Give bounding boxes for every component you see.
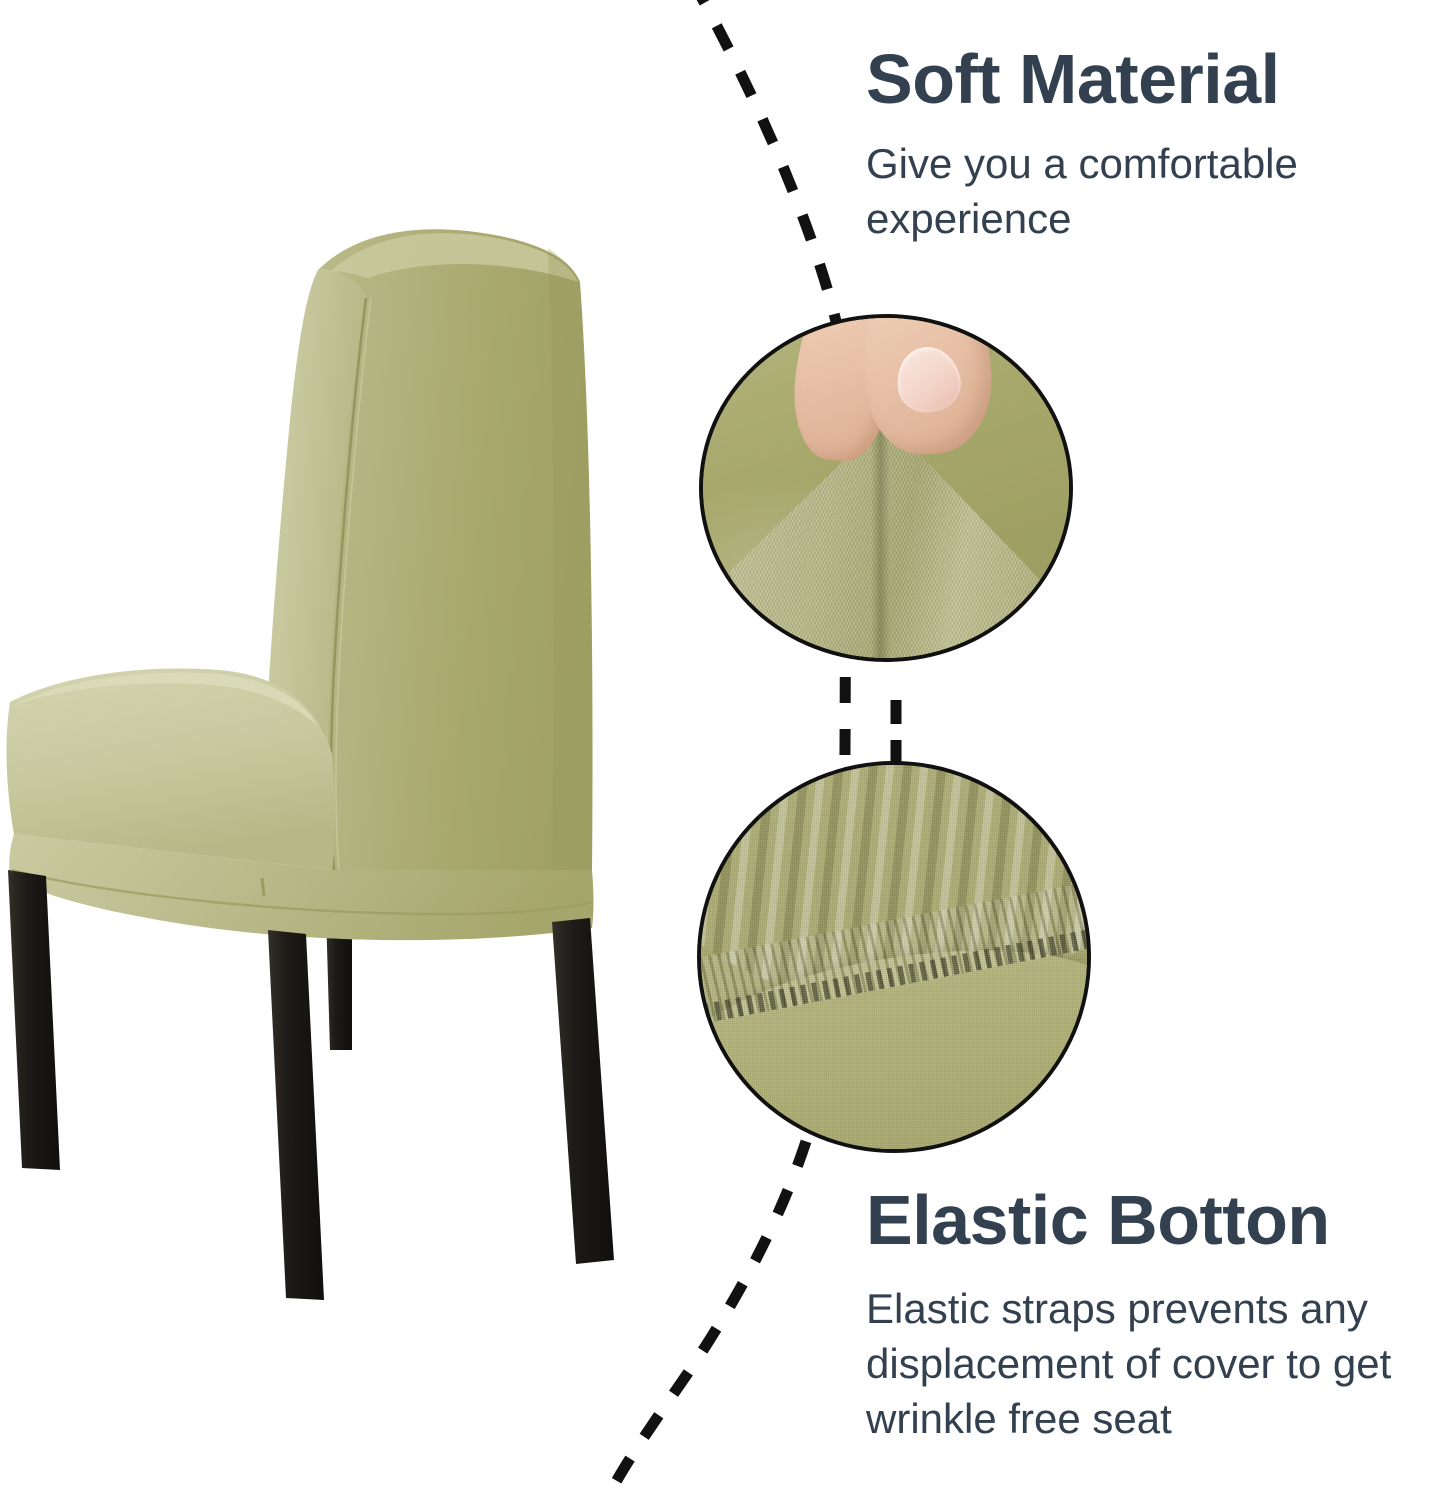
feature-block-soft-material: Soft Material Give you a comfortable exp… [866,44,1386,247]
chair-product-image [0,170,690,1300]
fabric-pinch-photo [701,316,1071,660]
elastic-hem-photo [699,763,1089,1151]
callout-circle-elastic-hem [697,761,1091,1153]
chair-svg [0,170,690,1300]
callout-circle-soft-material [699,314,1073,662]
feature-block-elastic-botton: Elastic Botton Elastic straps prevents a… [866,1185,1439,1446]
feature-title-elastic-botton: Elastic Botton [866,1185,1439,1256]
feature-description-soft-material: Give you a comfortable experience [866,137,1386,246]
feature-title-soft-material: Soft Material [866,44,1386,115]
infographic-canvas: Soft Material Give you a comfortable exp… [0,0,1439,1500]
hem-fabric-texture [699,763,1089,1151]
fabric-fold-shadow [871,412,890,660]
feature-description-elastic-botton: Elastic straps prevents any displacement… [866,1282,1439,1446]
chair-back-shadow [548,248,593,874]
chair-cover-stitch-mark [262,878,264,896]
